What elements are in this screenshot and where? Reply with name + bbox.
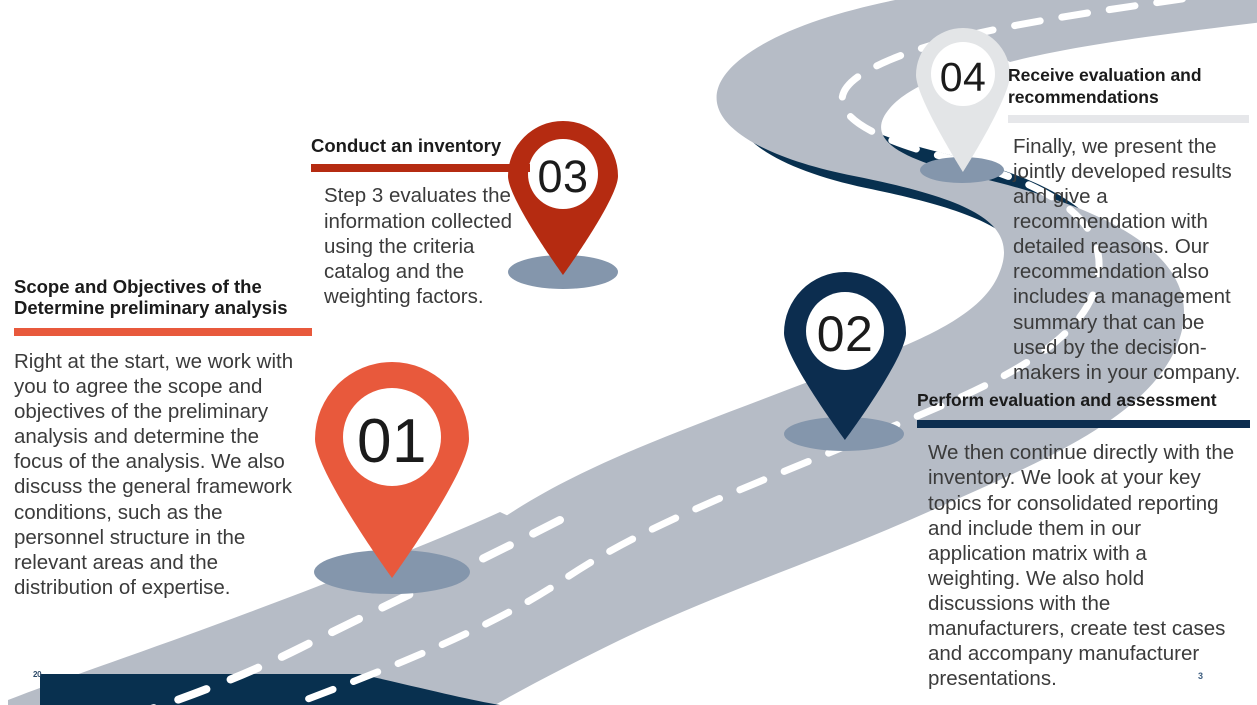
- step-block-03: Conduct an inventory Step 3 evaluates th…: [311, 135, 530, 309]
- step-02-rule: [917, 420, 1250, 428]
- slide-canvas: 01 02 03 04 Scope and Objectives of the …: [0, 0, 1257, 705]
- step-01-rule: [14, 328, 312, 336]
- step-01-body: Right at the start, we work with you to …: [14, 349, 312, 600]
- step-block-01: Scope and Objectives of the Determine pr…: [14, 276, 312, 600]
- pin-01-number: 01: [315, 406, 469, 477]
- step-04-title: Receive evaluation and recommendations: [1008, 64, 1249, 109]
- step-04-rule: [1008, 115, 1249, 123]
- pin-04-number: 04: [916, 54, 1010, 101]
- step-block-02: Perform evaluation and assessment We the…: [917, 390, 1250, 691]
- step-01-title: Scope and Objectives of the Determine pr…: [14, 276, 312, 319]
- page-number: 3: [1198, 671, 1203, 681]
- map-pin-04[interactable]: 04: [916, 28, 1010, 172]
- step-03-title: Conduct an inventory: [311, 135, 530, 156]
- step-04-body: Finally, we present the jointly develope…: [1008, 134, 1249, 385]
- step-02-body: We then continue directly with the inven…: [917, 440, 1235, 691]
- map-pin-02[interactable]: 02: [784, 272, 906, 440]
- step-02-title: Perform evaluation and assessment: [917, 390, 1250, 410]
- corner-mark: 20: [33, 670, 41, 679]
- step-03-body: Step 3 evaluates the information collect…: [311, 183, 514, 309]
- step-03-rule: [311, 164, 530, 172]
- map-pin-01[interactable]: 01: [315, 362, 469, 578]
- pin-02-number: 02: [784, 305, 906, 363]
- step-block-04: Receive evaluation and recommendations F…: [1008, 64, 1249, 385]
